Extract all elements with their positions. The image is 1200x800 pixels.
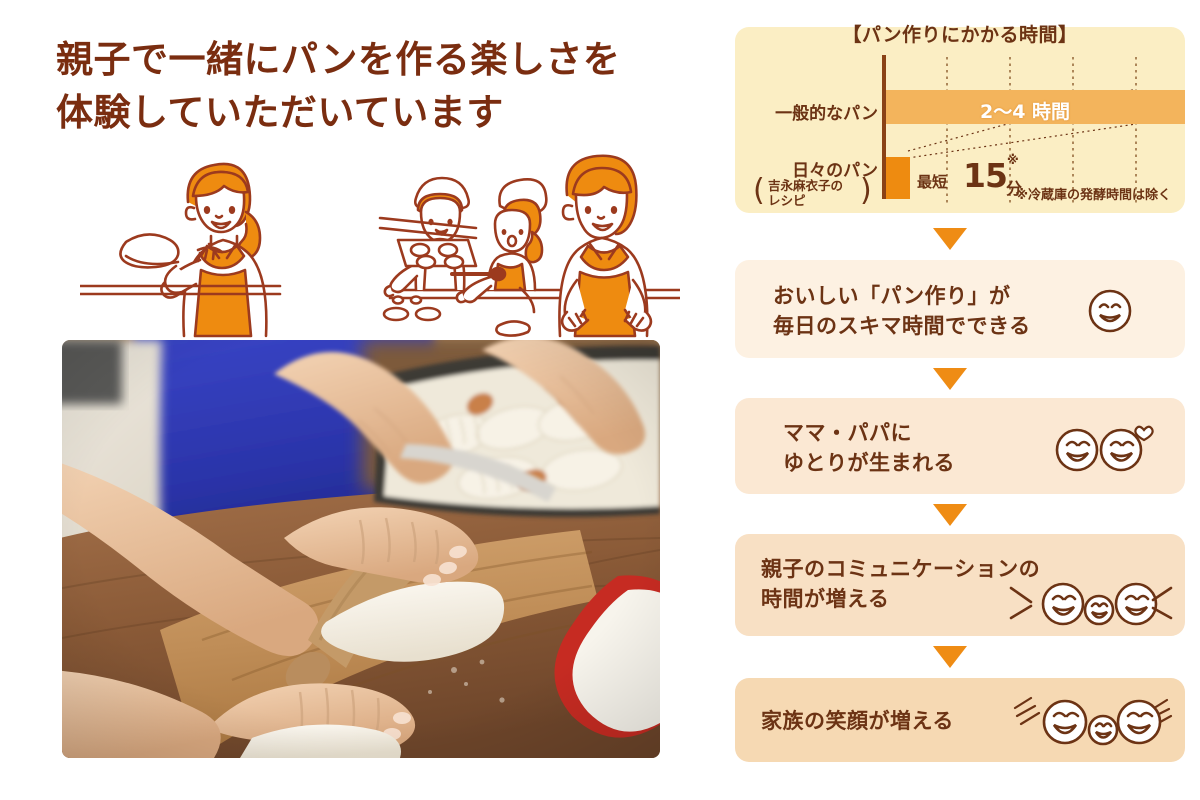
chart-bar-label-value: 15 bbox=[963, 156, 1007, 195]
flow-arrow-1 bbox=[725, 228, 1175, 250]
flow-step-1-faces bbox=[1083, 286, 1137, 341]
flow-step-2-text: ママ・パパに ゆとりが生まれる bbox=[783, 418, 955, 479]
chart-bar-label-prefix: 最短 bbox=[917, 171, 947, 192]
flow-arrow-4 bbox=[725, 646, 1175, 668]
chart-bar-daily-bread bbox=[886, 157, 910, 199]
chart-footnote: ※冷蔵庫の発酵時間は除く bbox=[1015, 184, 1171, 203]
flow-step-4: 家族の笑顔が増える bbox=[735, 678, 1185, 762]
flow-arrow-3 bbox=[725, 504, 1175, 526]
infographic-page: 親子で一緒にパンを作る楽しさを 体験していただいています bbox=[0, 0, 1200, 800]
flow-step-3-faces bbox=[1005, 578, 1177, 635]
chart-title: 【パン作りにかかる時間】 bbox=[735, 20, 1185, 47]
left-column: 親子で一緒にパンを作る楽しさを 体験していただいています bbox=[0, 0, 700, 800]
chart-bar-label-general: 2〜4 時間 bbox=[950, 97, 1100, 124]
chart-category-sublabel-recipe: 吉永麻衣子の レシピ bbox=[768, 179, 843, 209]
flow-step-1: おいしい「パン作り」が 毎日のスキマ時間でできる bbox=[735, 260, 1185, 358]
flow-step-2-faces bbox=[1051, 418, 1155, 479]
chart-category-label-general: 一般的なパン bbox=[735, 99, 878, 124]
chart-footnote-marker: ※ bbox=[1007, 153, 1019, 167]
bread-kneading-photo bbox=[62, 340, 660, 758]
chart-sublabel-paren-close: ) bbox=[860, 173, 872, 208]
flow-step-4-faces bbox=[1001, 684, 1181, 763]
woman-right-figure bbox=[559, 156, 650, 336]
flow-step-4-text: 家族の笑顔が増える bbox=[761, 706, 954, 736]
flow-arrow-2 bbox=[725, 368, 1175, 390]
flow-step-1-text: おいしい「パン作り」が 毎日のスキマ時間でできる bbox=[773, 281, 1031, 342]
flow-step-3-text: 親子のコミュニケーションの 時間が増える bbox=[761, 554, 1040, 615]
chart-sublabel-paren-open: ( bbox=[753, 173, 765, 208]
right-column: 【パン作りにかかる時間】 一般的なパン 日々のパン ( 吉永麻衣子の レシピ )… bbox=[725, 0, 1200, 800]
page-title: 親子で一緒にパンを作る楽しさを 体験していただいています bbox=[56, 34, 696, 139]
woman-left-figure bbox=[120, 164, 266, 336]
flow-step-2: ママ・パパに ゆとりが生まれる bbox=[735, 398, 1185, 494]
flow-step-3: 親子のコミュニケーションの 時間が増える bbox=[735, 534, 1185, 636]
parent-child-bread-making-illustration bbox=[80, 140, 680, 340]
bread-time-chart-card: 【パン作りにかかる時間】 一般的なパン 日々のパン ( 吉永麻衣子の レシピ )… bbox=[735, 27, 1185, 213]
